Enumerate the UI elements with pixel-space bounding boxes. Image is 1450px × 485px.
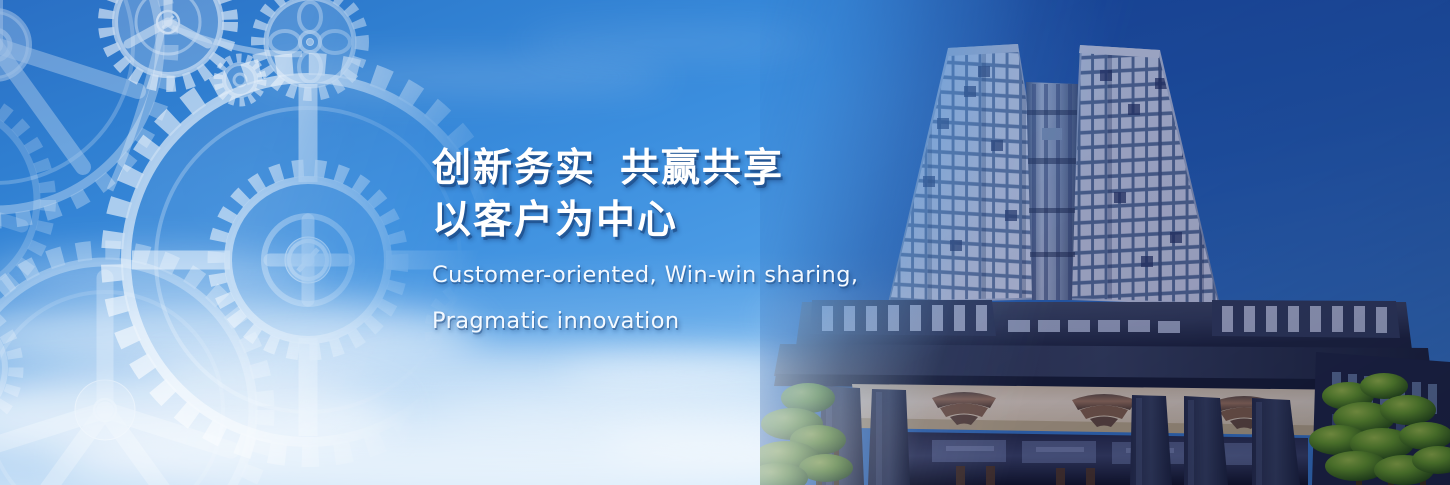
headline-line-2: 以客户为中心 bbox=[432, 195, 952, 247]
hero-banner: 创新务实共赢共享 以客户为中心 Customer-oriented, Win-w… bbox=[0, 0, 1450, 485]
headline-line-1: 创新务实共赢共享 bbox=[432, 143, 952, 195]
headline-phrase-b: 共赢共享 bbox=[620, 146, 784, 191]
subtitle-line-2: Pragmatic innovation bbox=[432, 303, 952, 339]
slogan-block: 创新务实共赢共享 以客户为中心 Customer-oriented, Win-w… bbox=[432, 143, 952, 339]
headline-phrase-a: 创新务实 bbox=[432, 146, 596, 191]
subtitle-line-1: Customer-oriented, Win-win sharing, bbox=[432, 257, 952, 293]
